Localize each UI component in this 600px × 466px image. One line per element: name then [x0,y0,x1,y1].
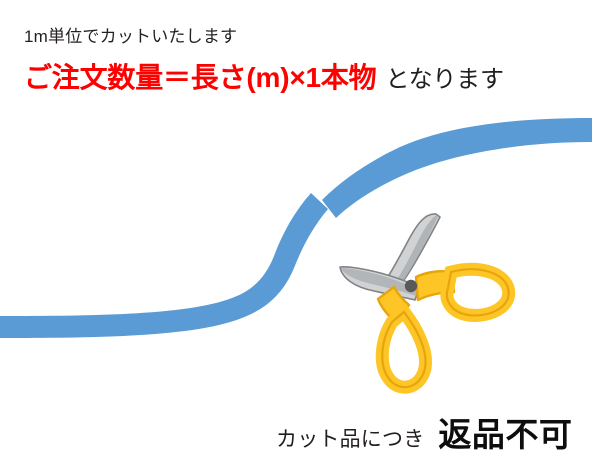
cable-segment-right [322,118,592,218]
lead-text: 1m単位でカットいたします [24,26,584,48]
footer-warning: 返品不可 [438,408,572,456]
headline-block: 1m単位でカットいたします ご注文数量＝長さ(m)×1本物となります [24,26,584,98]
cable-segment-left [0,193,328,338]
tail-text: となります [385,66,503,93]
cut-notice-graphic: 1m単位でカットいたします ご注文数量＝長さ(m)×1本物となります カット品に… [0,0,600,466]
scissors-handle-lower-loop [382,312,425,387]
emphasis-text: ご注文数量＝長さ(m)×1本物 [24,62,376,93]
footer-note: カット品につき [276,423,424,453]
footer-block: カット品につき 返品不可 [276,408,572,456]
scissors-icon [340,214,509,387]
main-statement: ご注文数量＝長さ(m)×1本物となります [24,60,584,98]
scissors-pivot-icon [405,280,417,292]
